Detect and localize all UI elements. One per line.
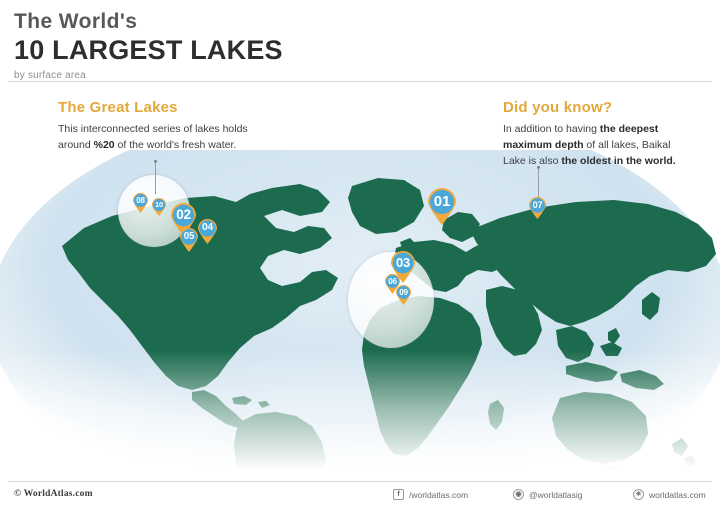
- social-label-instagram: @worldatlasig: [529, 490, 583, 500]
- social-link-instagram[interactable]: ◉ @worldatlasig: [513, 489, 583, 500]
- map-marker-great-bear-lake[interactable]: 08: [133, 193, 148, 213]
- map-marker-caspian-sea[interactable]: 01: [428, 188, 456, 225]
- dyk-line1-bold: the deepest: [600, 123, 658, 135]
- marker-number-04: 04: [198, 222, 217, 235]
- callout-great-lakes-title: The Great Lakes: [58, 99, 318, 116]
- dyk-line2-suffix: of all lakes, Baikal: [584, 139, 671, 151]
- social-link-website[interactable]: ✳ worldatlas.com: [633, 489, 706, 500]
- page-title: 10 LARGEST LAKES: [14, 35, 720, 66]
- header: The World's 10 LARGEST LAKES by surface …: [0, 0, 720, 82]
- map-marker-huron[interactable]: 04: [198, 219, 217, 244]
- dyk-line1-prefix: In addition to having: [503, 123, 600, 135]
- page-subtitle: by surface area: [14, 70, 720, 81]
- gl-body-percent: %20: [94, 139, 115, 151]
- marker-number-05: 05: [180, 231, 198, 243]
- gl-body-line2-suffix: of the world's fresh water.: [115, 139, 237, 151]
- dyk-line3-bold: the oldest in the world.: [561, 155, 675, 167]
- copyright-text: © WorldAtlas.com: [14, 489, 93, 499]
- header-divider: [8, 81, 712, 82]
- callout-great-lakes: The Great Lakes This interconnected seri…: [58, 99, 318, 153]
- callout-did-you-know-body: In addition to having the deepest maximu…: [503, 121, 713, 169]
- globe-icon: ✳: [633, 489, 644, 500]
- social-label-facebook: /worldatlas.com: [409, 490, 468, 500]
- marker-number-10: 10: [152, 200, 166, 209]
- footer: © WorldAtlas.com f /worldatlas.com ◉ @wo…: [0, 482, 720, 509]
- leader-line-baikal: [538, 168, 539, 200]
- map-marker-malawi[interactable]: 09: [396, 285, 411, 305]
- map-marker-michigan[interactable]: 05: [180, 228, 198, 252]
- marker-number-09: 09: [396, 288, 411, 298]
- marker-number-08: 08: [133, 196, 148, 206]
- instagram-icon: ◉: [513, 489, 524, 500]
- marker-number-01: 01: [428, 193, 456, 211]
- marker-number-02: 02: [171, 207, 196, 224]
- social-link-facebook[interactable]: f /worldatlas.com: [393, 489, 468, 500]
- gl-body-line2-prefix: around: [58, 139, 94, 151]
- globe-bottom-fade: [0, 350, 720, 470]
- social-label-website: worldatlas.com: [649, 490, 706, 500]
- map-marker-great-slave-lake[interactable]: 10: [152, 198, 166, 216]
- leader-line-great-lakes: [155, 162, 156, 194]
- title-eyebrow: The World's: [14, 10, 720, 34]
- callout-great-lakes-body: This interconnected series of lakes hold…: [58, 121, 318, 153]
- marker-number-03: 03: [391, 255, 415, 271]
- callout-did-you-know-title: Did you know?: [503, 99, 713, 116]
- gl-body-line1: This interconnected series of lakes hold…: [58, 123, 248, 135]
- infographic-page: The World's 10 LARGEST LAKES by surface …: [0, 0, 720, 509]
- marker-number-07: 07: [529, 200, 546, 211]
- callout-did-you-know: Did you know? In addition to having the …: [503, 99, 713, 169]
- dyk-line2-bold: maximum depth: [503, 139, 584, 151]
- facebook-icon: f: [393, 489, 404, 500]
- dyk-line3-prefix: Lake is also: [503, 155, 561, 167]
- map-marker-baikal[interactable]: 07: [529, 197, 546, 219]
